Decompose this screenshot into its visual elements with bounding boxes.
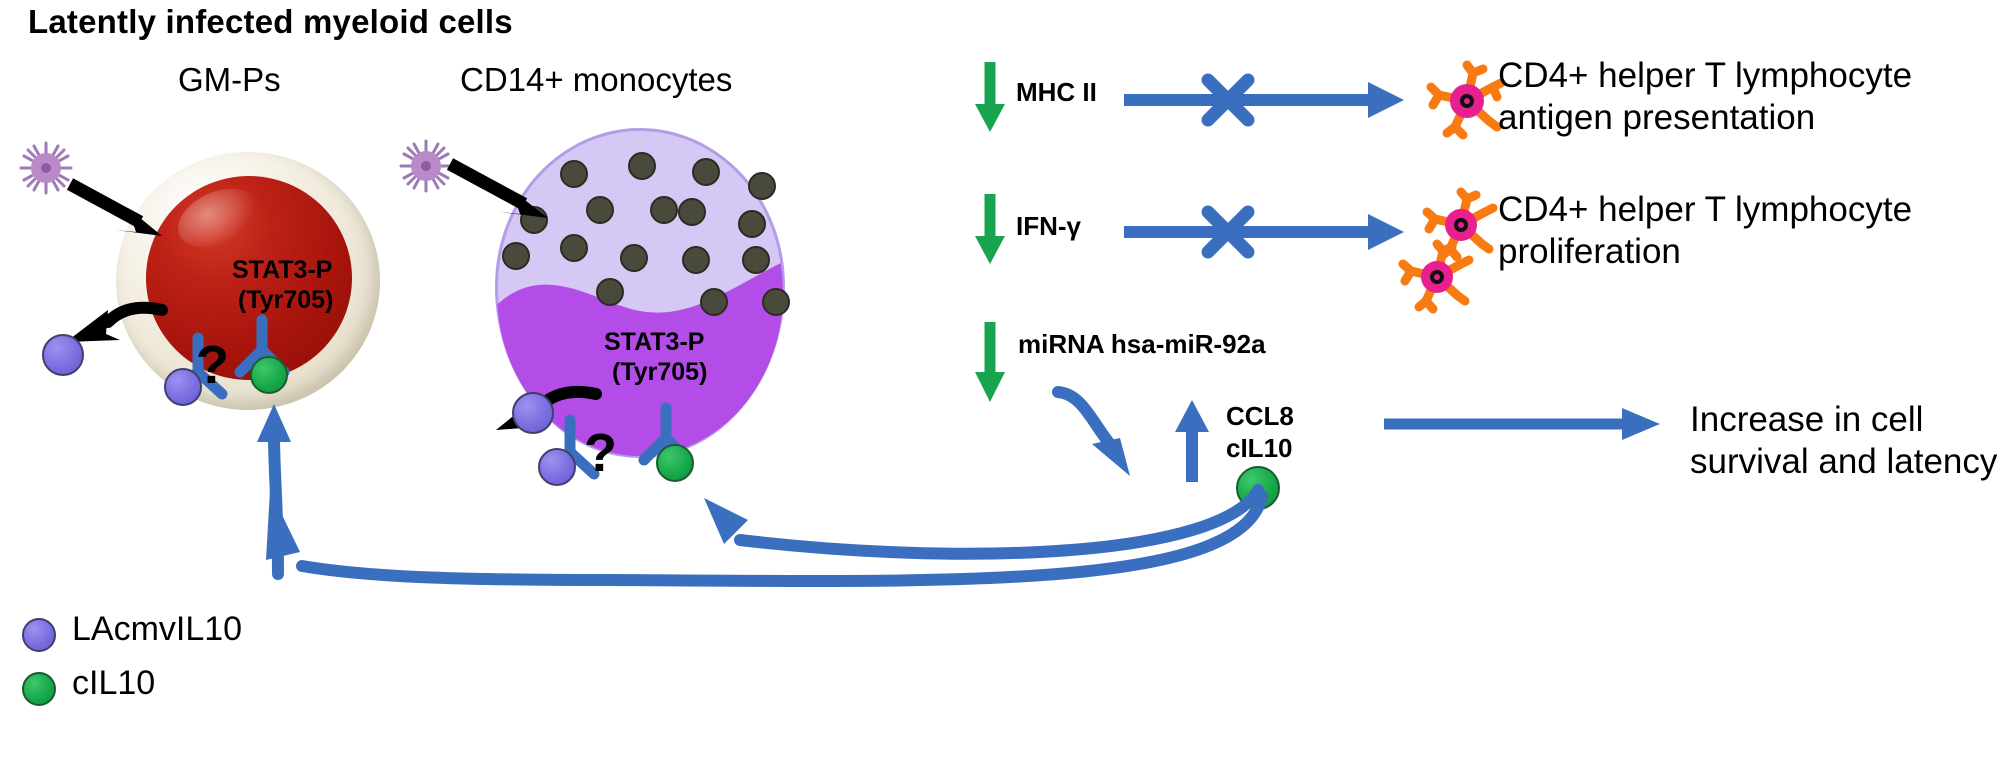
cil10-bound-gmps: [250, 356, 288, 394]
outcome-text-survival-line1: Increase in cell: [1690, 400, 1923, 440]
granule: [692, 158, 720, 186]
granule: [682, 246, 710, 274]
legend-marker-lacmvil10: [22, 618, 56, 652]
blocked-arrow-mhc2: [1124, 70, 1414, 130]
monocytes-label: CD14+ monocytes: [460, 62, 732, 99]
blocked-arrow-ifng: [1124, 202, 1414, 262]
outcome-text-proliferation-line1: CD4+ helper T lymphocyte: [1498, 190, 1912, 230]
pathway-label-ifng: IFN-γ: [1016, 212, 1081, 241]
infection-arrow-monocyte: [446, 160, 566, 232]
legend-label-cil10: cIL10: [72, 664, 155, 702]
gmps-label: GM-Ps: [178, 62, 281, 99]
outcome-text-antigen-presentation-line1: CD4+ helper T lymphocyte: [1498, 56, 1912, 96]
page-title: Latently infected myeloid cells: [28, 4, 513, 41]
granule: [650, 196, 678, 224]
lacmvil10-secreted-gmps: [42, 334, 84, 376]
t-lymphocyte-icon-antigen-presentation: [1428, 62, 1506, 140]
diagram-canvas: Latently infected myeloid cells GM-Ps: [0, 0, 2008, 760]
legend-label-lacmvil10: LAcmvIL10: [72, 610, 242, 648]
pathway-label-mirna: miRNA hsa-miR-92a: [1018, 330, 1266, 359]
feedback-loop-gmps: [252, 470, 1282, 600]
granule: [586, 196, 614, 224]
t-lymphocyte-icon-proliferation-b: [1400, 240, 1474, 314]
granule: [596, 278, 624, 306]
granule: [502, 242, 530, 270]
granule: [700, 288, 728, 316]
pathway-label-mhc2: MHC II: [1016, 78, 1097, 107]
chemokine-label-ccl8: CCL8: [1226, 402, 1294, 431]
legend-marker-cil10: [22, 672, 56, 706]
granule: [762, 288, 790, 316]
monocyte-stat3-label-line1: STAT3-P: [604, 328, 704, 356]
chemokine-label-cil10: cIL10: [1226, 434, 1293, 463]
outcome-text-proliferation-line2: proliferation: [1498, 232, 1681, 272]
granule: [560, 234, 588, 262]
granule: [748, 172, 776, 200]
outcome-text-antigen-presentation-line2: antigen presentation: [1498, 98, 1815, 138]
feedback-loop-gmps-riser: [244, 392, 304, 582]
gmps-stat3-label-line2: (Tyr705): [238, 286, 333, 314]
granule: [628, 152, 656, 180]
arrow-to-survival-outcome: [1384, 400, 1674, 448]
granule: [678, 198, 706, 226]
outcome-text-survival-line2: survival and latency: [1690, 442, 1997, 482]
down-arrow-ifng: [972, 192, 1008, 268]
gmps-stat3-label-line1: STAT3-P: [232, 256, 332, 284]
monocyte-stat3-label-line2: (Tyr705): [612, 358, 707, 386]
infection-arrow-gmps: [66, 178, 176, 248]
granule: [620, 244, 648, 272]
granule: [742, 246, 770, 274]
down-arrow-mhc2: [972, 60, 1008, 136]
granule: [738, 210, 766, 238]
down-arrow-mirna: [972, 320, 1008, 406]
